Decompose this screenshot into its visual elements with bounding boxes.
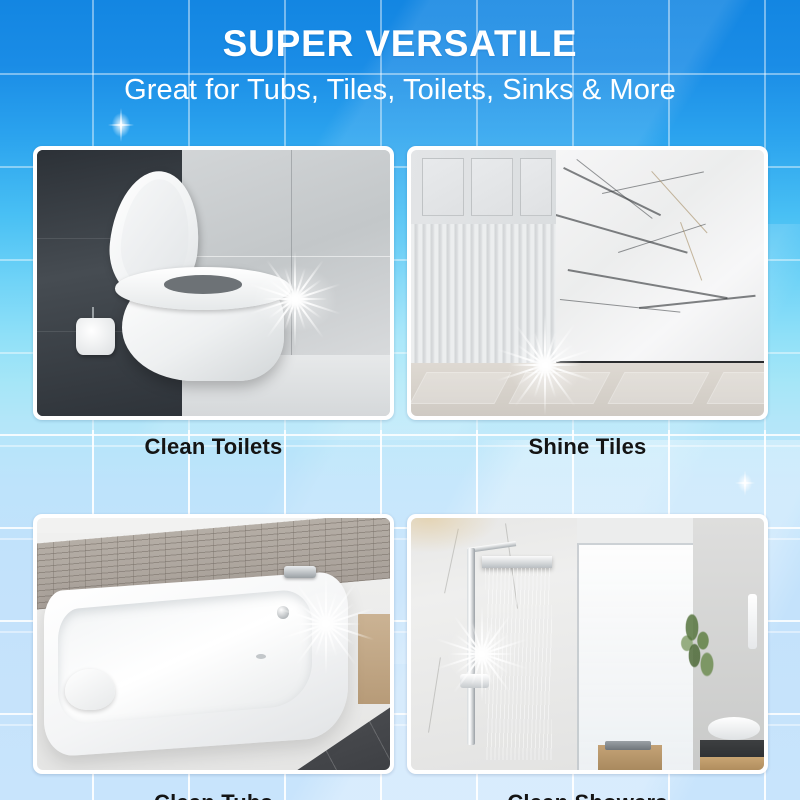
photo-frame	[407, 146, 768, 420]
page-title: SUPER VERSATILE	[0, 23, 800, 65]
bath-pillow	[65, 669, 114, 709]
stone-floor	[411, 363, 764, 416]
vessel-sink	[708, 717, 761, 740]
card-caption: Shine Tiles	[407, 434, 768, 460]
photo-shine-tiles	[411, 150, 764, 416]
plant	[672, 601, 721, 689]
feature-card-clean-showers[interactable]: Clean Showers	[407, 514, 768, 800]
feature-row-1: Clean Toilets	[33, 146, 768, 460]
photo-frame	[33, 514, 394, 774]
marble-tile-wall	[556, 150, 764, 363]
wood-cabinet	[358, 614, 390, 705]
photo-clean-toilets	[37, 150, 390, 416]
photo-clean-showers	[411, 518, 764, 770]
fluted-texture	[411, 224, 556, 362]
vanity-wood-base	[700, 757, 764, 770]
wall-lamp	[748, 594, 757, 649]
header: SUPER VERSATILE Great for Tubs, Tiles, T…	[0, 0, 800, 107]
toilet-bowl-opening	[164, 275, 242, 294]
shower-riser-rail	[467, 548, 475, 745]
card-caption: Clean Toilets	[33, 434, 394, 460]
feature-card-clean-toilets[interactable]: Clean Toilets	[33, 146, 394, 460]
toilet-paper-roll	[76, 318, 115, 355]
card-caption: Clean Showers	[407, 790, 768, 800]
chrome-faucet	[284, 566, 316, 579]
shower-valve	[460, 674, 488, 688]
page-subtitle: Great for Tubs, Tiles, Toilets, Sinks & …	[0, 74, 800, 107]
card-caption: Clean Tubs	[33, 790, 394, 800]
feature-card-clean-tubs[interactable]: Clean Tubs	[33, 514, 394, 800]
overflow-knob	[277, 606, 289, 619]
photo-frame	[407, 514, 768, 774]
feature-card-shine-tiles[interactable]: Shine Tiles	[407, 146, 768, 460]
feature-grid: Clean Toilets	[33, 146, 768, 800]
folded-towel	[605, 741, 651, 750]
photo-clean-tubs	[37, 518, 390, 770]
falling-water	[485, 568, 552, 760]
rain-shower-head	[482, 556, 553, 569]
feature-row-2: Clean Tubs	[33, 514, 768, 800]
photo-frame	[33, 146, 394, 420]
